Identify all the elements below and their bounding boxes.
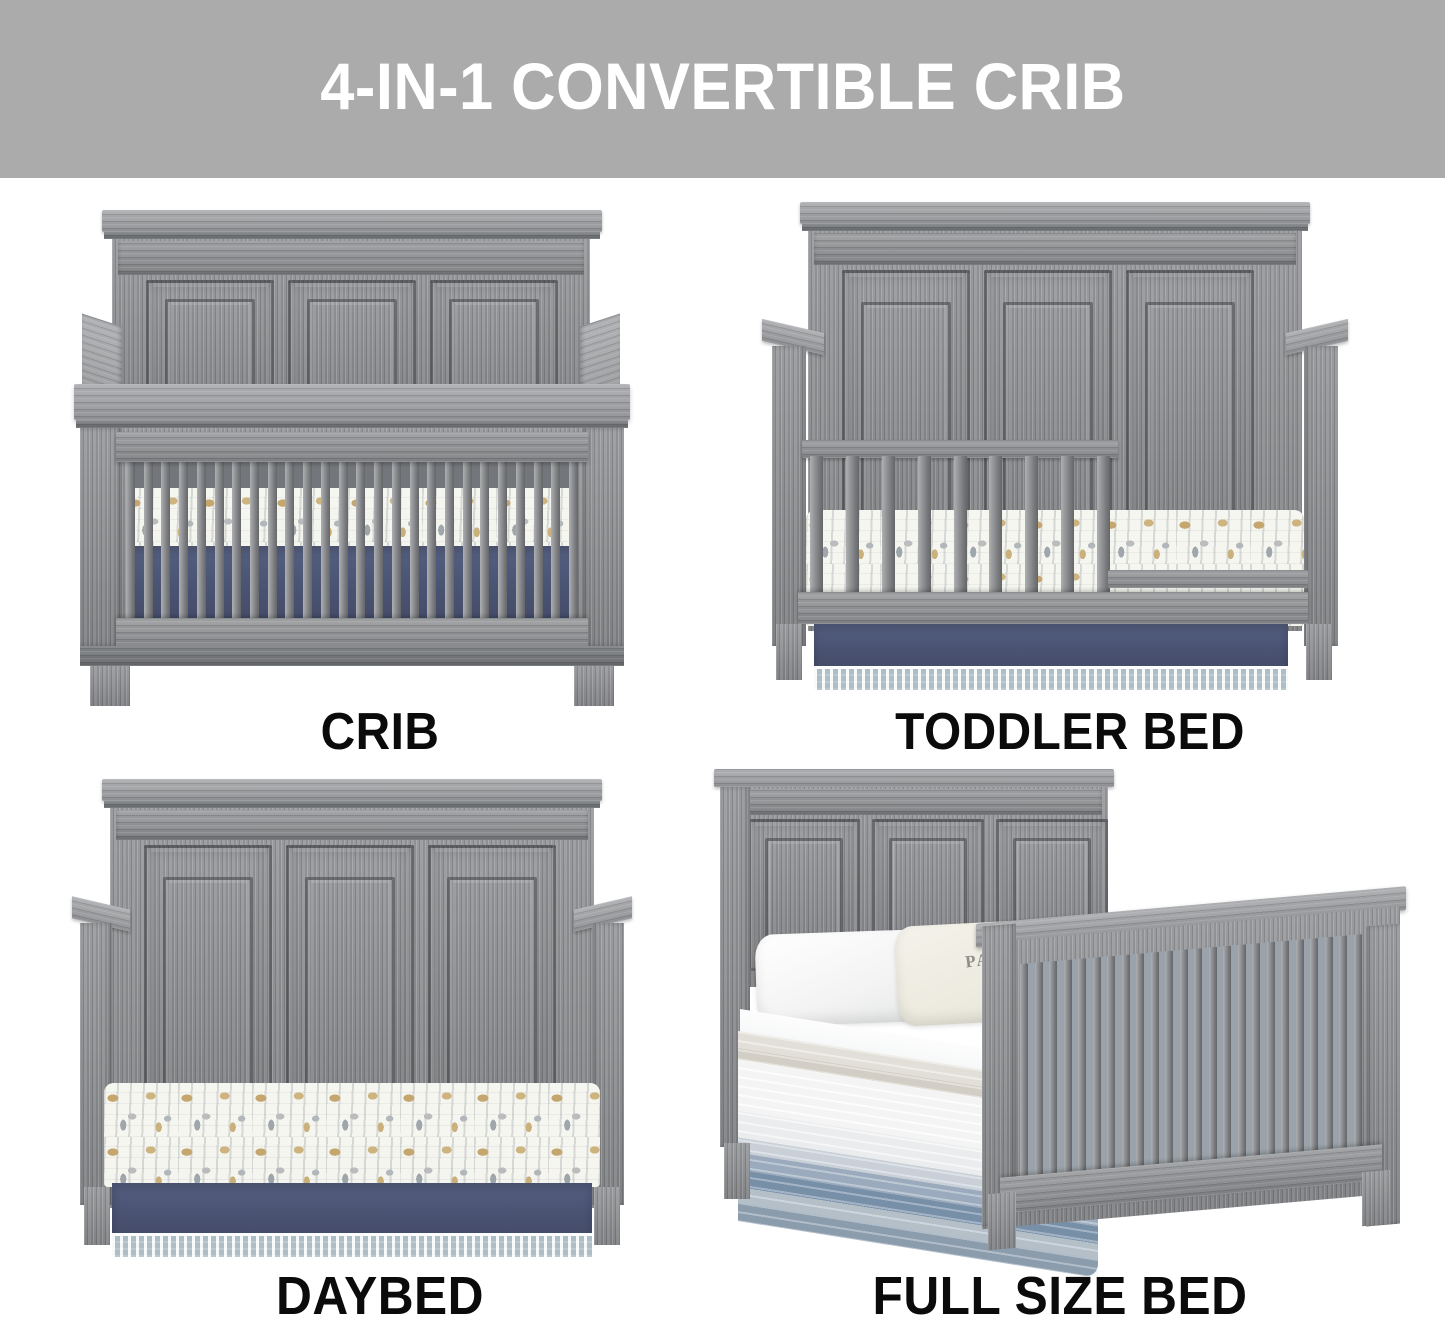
toddler-bed-illustration	[740, 188, 1400, 688]
label-toddler-bed: TODDLER BED	[766, 706, 1373, 758]
crib-illustration	[60, 188, 700, 688]
crib-base-rail	[80, 646, 624, 666]
page-title: 4-IN-1 CONVERTIBLE CRIB	[320, 53, 1125, 125]
crib-cap-shadow	[104, 232, 600, 239]
crib-top-cap	[102, 210, 602, 232]
crib-slats	[126, 444, 578, 622]
label-crib: CRIB	[86, 706, 675, 758]
toddler-guardrail-slats	[810, 456, 1110, 596]
daybed-panel-3	[428, 845, 556, 1117]
crib-front-top-rail	[74, 384, 630, 420]
configuration-grid: CRIB	[0, 178, 1445, 1328]
toddler-post-right	[1304, 346, 1338, 646]
configuration-toddler-bed[interactable]: TODDLER BED	[740, 188, 1400, 758]
full-leg-footboard-left	[988, 1192, 1016, 1250]
full-headboard-top-rail	[726, 789, 1102, 815]
toddler-front-rail	[798, 592, 1308, 624]
daybed-top-cap	[102, 779, 602, 801]
daybed-headboard-top-rail	[116, 810, 588, 840]
crib-post-right	[582, 428, 624, 646]
toddler-cap-shadow	[802, 224, 1308, 231]
header-band: 4-IN-1 CONVERTIBLE CRIB	[0, 0, 1445, 178]
crib-inner-top-rail	[116, 432, 588, 462]
toddler-top-cap	[800, 202, 1310, 224]
configuration-daybed[interactable]: DAYBED	[60, 763, 700, 1323]
toddler-leg-right	[1306, 624, 1332, 680]
daybed-mattress	[104, 1083, 600, 1187]
crib-leg-left	[90, 666, 130, 706]
daybed-panel-2	[286, 845, 414, 1117]
toddler-right-low-rail	[1108, 570, 1308, 588]
crib-leg-right	[574, 666, 614, 706]
full-size-bed-illustration: PARIS - 6	[700, 763, 1420, 1253]
full-leg-footboard-right	[1362, 1170, 1390, 1226]
configuration-crib[interactable]: CRIB	[60, 188, 700, 758]
toddler-bed-skirt	[814, 624, 1288, 670]
full-footboard-slats	[1020, 934, 1362, 1180]
toddler-skirt-lace-trim	[814, 666, 1288, 690]
toddler-leg-left	[776, 624, 802, 680]
toddler-headboard-top-rail	[814, 233, 1296, 265]
daybed-cap-shadow	[104, 801, 600, 808]
daybed-leg-left	[84, 1187, 110, 1245]
daybed-sheet-pattern	[104, 1083, 600, 1187]
crib-headboard-top-rail	[118, 241, 584, 275]
configuration-full-size-bed[interactable]: PARIS - 6	[700, 763, 1420, 1323]
daybed-illustration	[60, 763, 700, 1253]
daybed-bed-skirt	[112, 1183, 592, 1237]
daybed-panel-1	[144, 845, 272, 1117]
daybed-leg-right	[594, 1187, 620, 1245]
crib-front-rail-shadow	[76, 420, 628, 428]
daybed-skirt-lace-trim	[112, 1233, 592, 1257]
label-daybed: DAYBED	[86, 1269, 675, 1323]
label-full-size-bed: FULL SIZE BED	[729, 1269, 1391, 1323]
toddler-panel-3	[1126, 270, 1254, 540]
full-leg-headboard	[724, 1143, 750, 1199]
full-headboard-cap	[714, 769, 1114, 787]
